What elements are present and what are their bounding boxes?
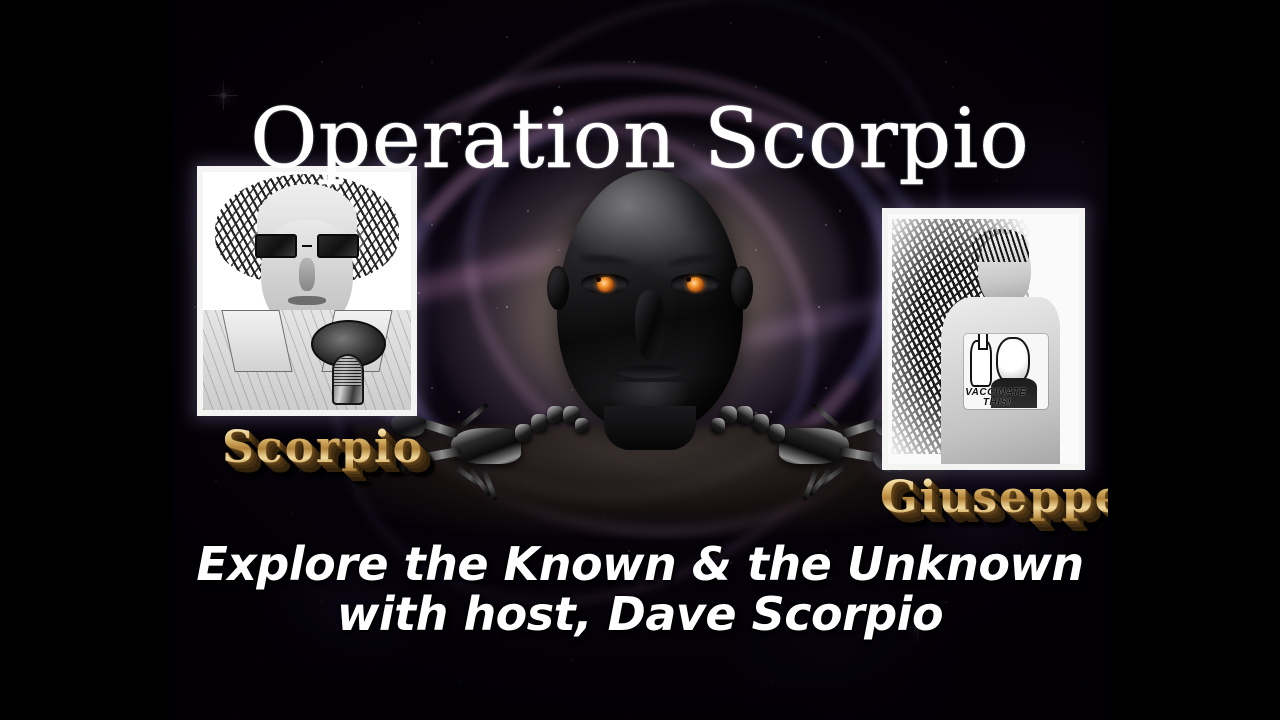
android-nose (635, 290, 665, 360)
scorpion-tail-segment (531, 414, 548, 432)
sketch-nose (299, 258, 316, 291)
tagline-line-2: with host, Dave Scorpio (172, 590, 1108, 640)
scorpion-pedipalp-arm (423, 447, 462, 462)
host-name-scorpio: Scorpio (222, 422, 424, 473)
mic-grill (334, 357, 361, 386)
portrait-scorpio (203, 172, 411, 410)
microphone-icon (311, 320, 386, 406)
scorpion-tail-segment (736, 406, 753, 424)
host-photo-frame-scorpio (197, 166, 417, 416)
scorpion-thorax (451, 428, 521, 464)
android-mouth (618, 366, 682, 378)
show-tagline: Explore the Known & the Unknown with hos… (172, 540, 1108, 639)
scorpion-tail-segment (752, 414, 769, 432)
android-ear-right (731, 266, 753, 310)
middle-finger-icon (970, 340, 992, 387)
tagline-line-1: Explore the Known & the Unknown (196, 537, 1083, 591)
scorpion-pedipalp-arm (839, 447, 878, 462)
letterbox-bar-right (1108, 0, 1280, 720)
android-ear-left (547, 266, 569, 310)
sketch-mouth (288, 296, 325, 306)
sketch-hair (972, 229, 1029, 262)
tshirt-graphic: VACCINATE THIS! (964, 334, 1048, 409)
poster-canvas: Operation Scorpio Scorpio (0, 0, 1280, 720)
scorpion-thorax (779, 428, 849, 464)
android-head-artwork (415, 170, 885, 530)
portrait-giuseppe: VACCINATE THIS! (888, 214, 1079, 464)
scorpion-leg (811, 403, 840, 429)
android-brow-right (667, 253, 722, 271)
host-name-giuseppe: Giuseppe (880, 472, 1125, 523)
host-photo-frame-giuseppe: VACCINATE THIS! (882, 208, 1085, 470)
android-neck (604, 406, 696, 450)
letterbox-bar-left (0, 0, 172, 720)
scorpion-stinger (575, 418, 589, 433)
android-eye-right (671, 274, 719, 294)
iris-glow-left (597, 277, 614, 292)
android-brow-left (579, 253, 634, 271)
scorpion-tail-segment (768, 424, 785, 442)
android-eye-left (581, 274, 629, 294)
scorpion-leg (459, 403, 488, 429)
tshirt-text-line-2: THIS! (983, 397, 1012, 408)
sunglasses-icon (255, 234, 359, 258)
scorpion-tail-segment (547, 406, 564, 424)
scorpion-tail-segment (515, 424, 532, 442)
show-title: Operation Scorpio (172, 99, 1108, 181)
scorpion-stinger (711, 418, 725, 433)
iris-glow-right (687, 277, 704, 292)
